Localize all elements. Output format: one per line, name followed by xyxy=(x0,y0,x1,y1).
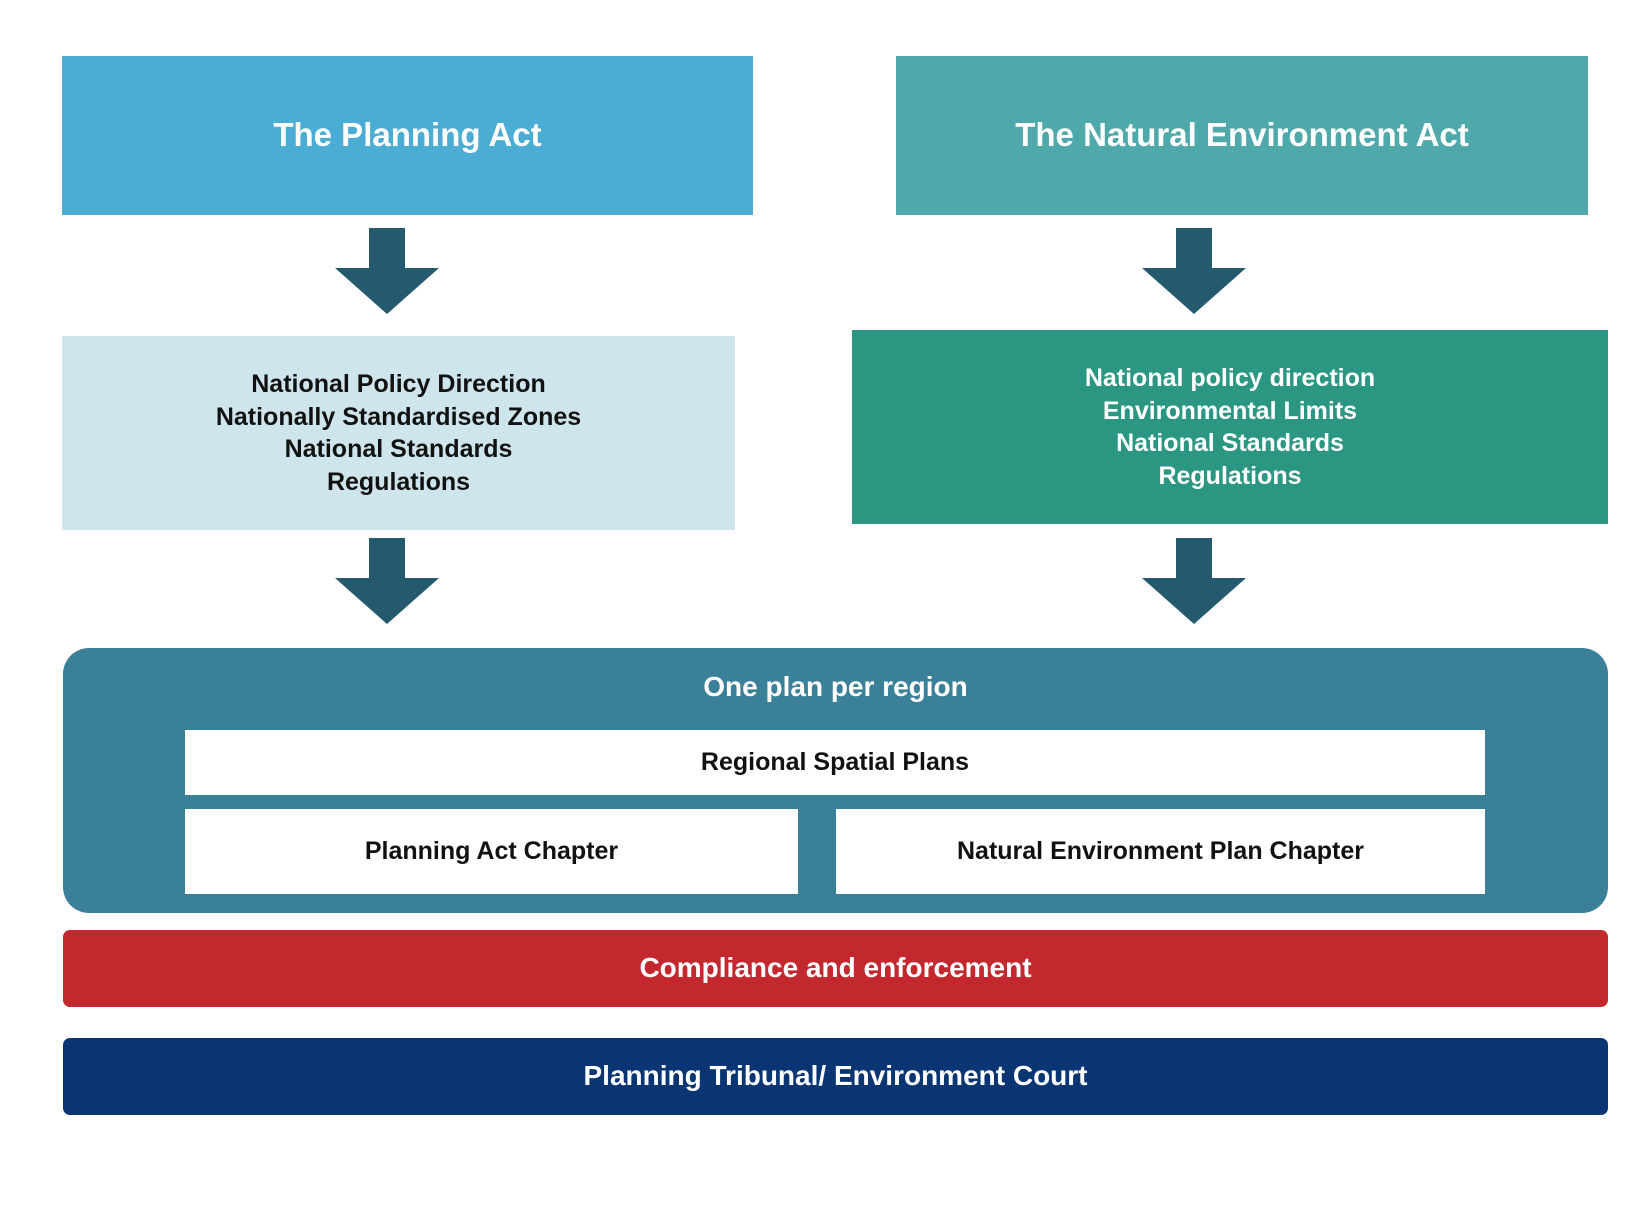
diagram-canvas: The Planning Act The Natural Environment… xyxy=(0,0,1652,1214)
natural-environment-act-title: The Natural Environment Act xyxy=(1015,114,1469,157)
planning-act-chapter-box: Planning Act Chapter xyxy=(185,809,798,894)
down-arrow-icon xyxy=(1142,538,1246,624)
natural-environment-act-banner: The Natural Environment Act xyxy=(896,56,1588,215)
planning-national-policy-box: National Policy Direction Nationally Sta… xyxy=(62,336,735,530)
down-arrow-icon xyxy=(1142,228,1246,314)
one-plan-per-region-block: One plan per region Regional Spatial Pla… xyxy=(63,648,1608,913)
planning-act-title: The Planning Act xyxy=(273,114,541,157)
natural-environment-plan-chapter-label: Natural Environment Plan Chapter xyxy=(957,837,1364,866)
planning-tribunal-environment-court-label: Planning Tribunal/ Environment Court xyxy=(583,1058,1087,1094)
natural-national-policy-box: National policy direction Environmental … xyxy=(852,330,1608,524)
planning-national-policy-text: National Policy Direction Nationally Sta… xyxy=(216,368,581,498)
natural-national-policy-text: National policy direction Environmental … xyxy=(1085,362,1375,492)
planning-act-chapter-label: Planning Act Chapter xyxy=(365,837,618,866)
compliance-and-enforcement-bar: Compliance and enforcement xyxy=(63,930,1608,1007)
down-arrow-icon xyxy=(335,538,439,624)
natural-environment-plan-chapter-box: Natural Environment Plan Chapter xyxy=(836,809,1485,894)
regional-spatial-plans-box: Regional Spatial Plans xyxy=(185,730,1485,795)
regional-spatial-plans-label: Regional Spatial Plans xyxy=(701,748,969,777)
region-block-title: One plan per region xyxy=(63,671,1608,703)
planning-act-banner: The Planning Act xyxy=(62,56,753,215)
planning-tribunal-environment-court-bar: Planning Tribunal/ Environment Court xyxy=(63,1038,1608,1115)
down-arrow-icon xyxy=(335,228,439,314)
compliance-and-enforcement-label: Compliance and enforcement xyxy=(639,950,1031,986)
